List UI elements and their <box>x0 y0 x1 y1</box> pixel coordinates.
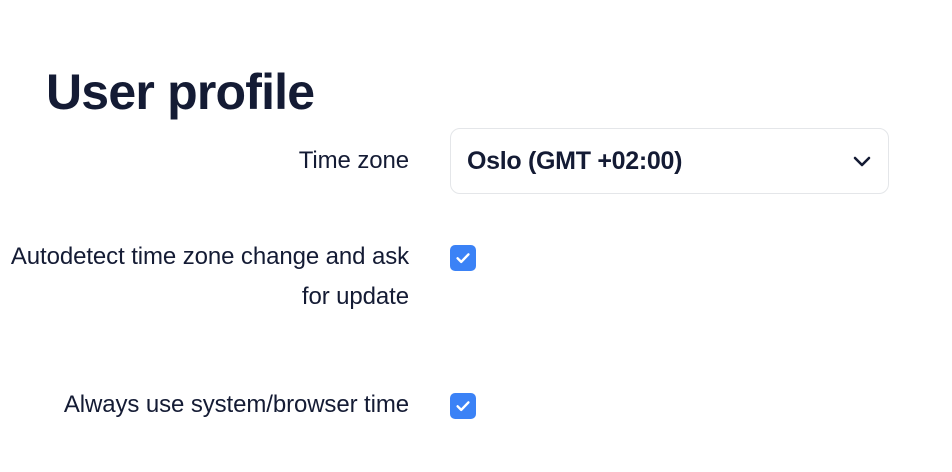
system-time-checkbox[interactable] <box>450 393 476 419</box>
form-row-timezone: Time zone Oslo (GMT +02:00) <box>0 128 952 224</box>
system-time-label: Always use system/browser time <box>0 385 409 425</box>
autodetect-label: Autodetect time zone change and ask for … <box>0 237 409 317</box>
form-row-autodetect: Autodetect time zone change and ask for … <box>0 237 952 317</box>
check-icon <box>454 249 472 267</box>
page-title: User profile <box>46 62 314 122</box>
chevron-down-icon <box>836 128 888 194</box>
timezone-label: Time zone <box>0 128 409 194</box>
autodetect-checkbox[interactable] <box>450 245 476 271</box>
user-profile-page: User profile Time zone Oslo (GMT +02:00)… <box>0 0 952 472</box>
check-icon <box>454 397 472 415</box>
form-row-system-time: Always use system/browser time <box>0 385 952 425</box>
timezone-selected-value: Oslo (GMT +02:00) <box>451 147 836 176</box>
timezone-select[interactable]: Oslo (GMT +02:00) <box>450 128 889 194</box>
timezone-control-wrap: Oslo (GMT +02:00) <box>450 128 952 194</box>
autodetect-control-wrap <box>450 237 952 271</box>
system-time-control-wrap <box>450 385 952 419</box>
profile-form: Time zone Oslo (GMT +02:00) Autodetect t… <box>0 128 952 425</box>
